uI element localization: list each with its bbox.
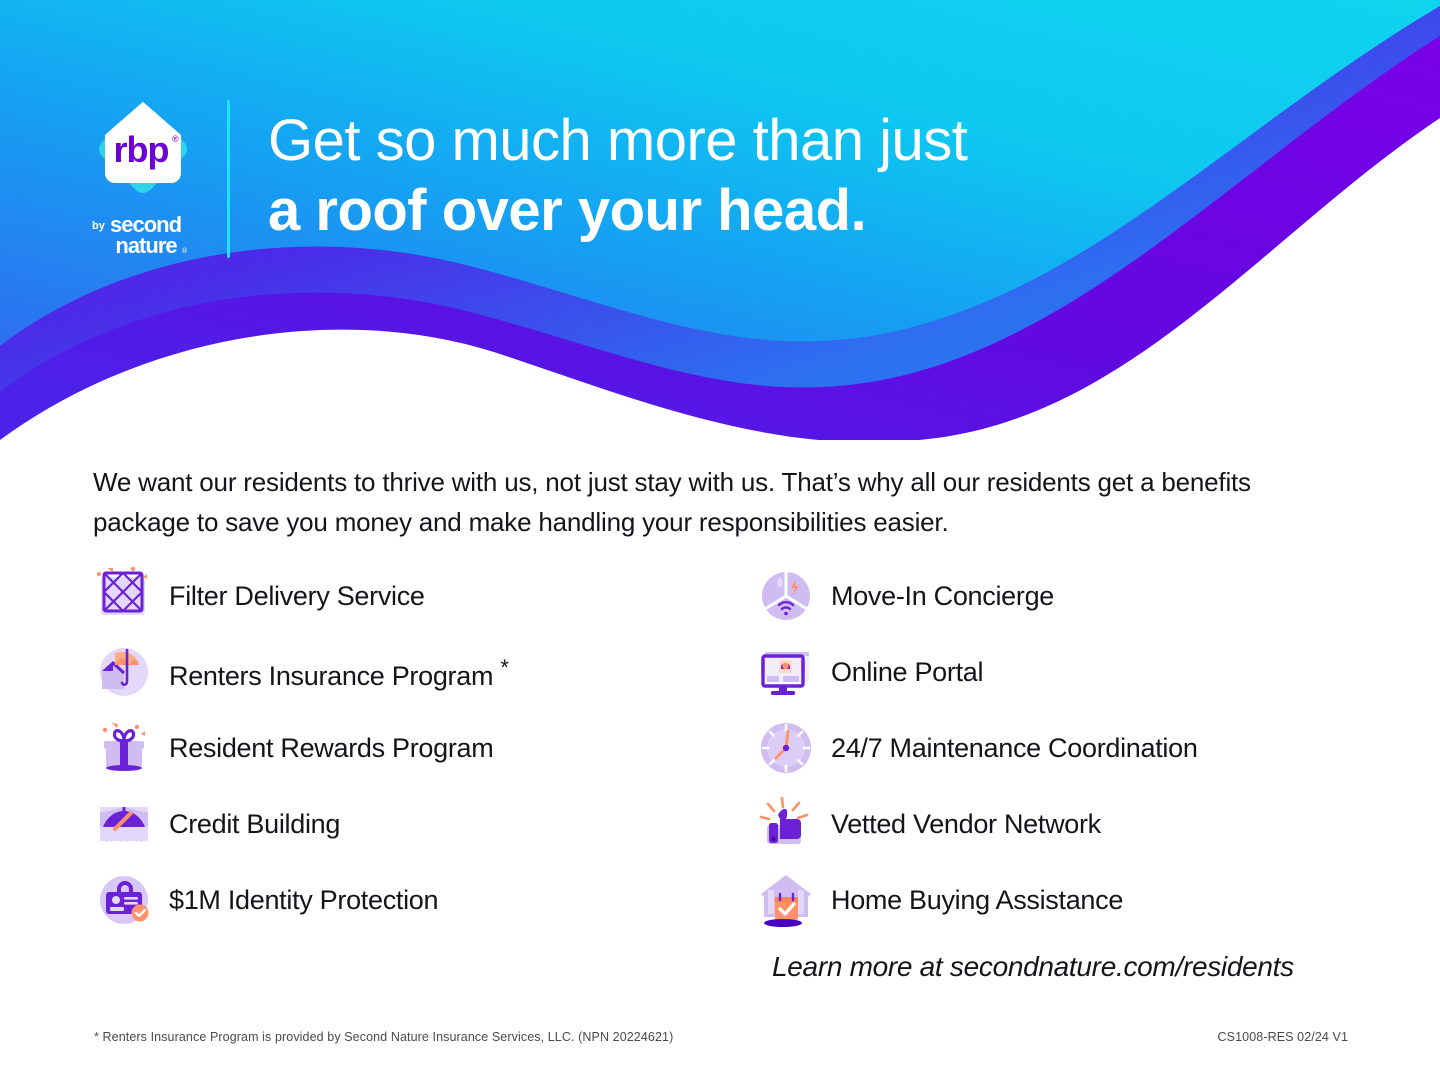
benefit-label: Online Portal: [831, 657, 983, 687]
learn-more-text[interactable]: Learn more at secondnature.com/residents: [772, 950, 1332, 984]
clock-icon: [755, 717, 817, 779]
benefit-resident-rewards-program: Resident Rewards Program: [93, 710, 713, 786]
gift-icon: [93, 717, 155, 779]
intro-paragraph: We want our residents to thrive with us,…: [93, 462, 1308, 542]
benefit-vetted-vendor-network: Vetted Vendor Network: [755, 786, 1375, 862]
benefits-column-right: Move-In Concierge: [755, 558, 1375, 938]
umbrella-icon: [93, 641, 155, 703]
benefit-label: Home Buying Assistance: [831, 885, 1123, 915]
svg-text:rbp: rbp: [114, 129, 169, 170]
rbp-logo-mark: rbp ®: [88, 96, 198, 204]
svg-text:by: by: [92, 220, 106, 232]
rbp-logo-lockup: rbp ® by second nature ®: [88, 96, 206, 256]
headline-line-1: Get so much more than just: [268, 106, 1248, 176]
benefit-home-buying-assistance: Home Buying Assistance: [755, 862, 1375, 938]
svg-text:nature: nature: [115, 233, 177, 258]
registered-mark: ®: [172, 134, 179, 144]
by-second-nature-wordmark: by second nature ®: [88, 212, 204, 258]
benefit-label: Renters Insurance Program *: [169, 653, 509, 691]
benefits-column-left: Filter Delivery Service: [93, 558, 713, 938]
credit-badge-icon: [93, 793, 155, 855]
id-badge-icon: [93, 869, 155, 931]
benefit-move-in-concierge: Move-In Concierge: [755, 558, 1375, 634]
filter-icon: [93, 565, 155, 627]
benefit-maintenance-coordination: 24/7 Maintenance Coordination: [755, 710, 1375, 786]
benefit-label: $1M Identity Protection: [169, 885, 438, 915]
benefit-label: Move-In Concierge: [831, 581, 1054, 611]
footnote-marker: *: [500, 655, 508, 680]
benefit-online-portal: Online Portal: [755, 634, 1375, 710]
utilities-pie-icon: [755, 565, 817, 627]
marketing-flyer: rbp ® by second nature ® Get so much mor…: [0, 0, 1440, 1080]
benefit-label: Credit Building: [169, 809, 340, 839]
benefit-label: Filter Delivery Service: [169, 581, 425, 611]
benefit-label: 24/7 Maintenance Coordination: [831, 733, 1198, 763]
monitor-icon: [755, 641, 817, 703]
benefit-label: Resident Rewards Program: [169, 733, 493, 763]
headline-line-2: a roof over your head.: [268, 176, 1248, 246]
document-code: CS1008-RES 02/24 V1: [1218, 1030, 1348, 1044]
benefit-renters-insurance-program: Renters Insurance Program *: [93, 634, 713, 710]
benefit-credit-building: Credit Building: [93, 786, 713, 862]
benefit-identity-protection: $1M Identity Protection: [93, 862, 713, 938]
hero-banner: rbp ® by second nature ® Get so much mor…: [0, 0, 1440, 440]
legal-disclaimer: * Renters Insurance Program is provided …: [94, 1030, 673, 1044]
rbp-logo-shape: rbp ®: [88, 96, 198, 204]
thumbs-up-icon: [755, 793, 817, 855]
hero-headline: Get so much more than just a roof over y…: [268, 106, 1248, 246]
hero-divider: [227, 100, 230, 258]
svg-text:®: ®: [182, 247, 188, 255]
benefit-label: Vetted Vendor Network: [831, 809, 1101, 839]
house-calendar-icon: [755, 869, 817, 931]
benefit-filter-delivery-service: Filter Delivery Service: [93, 558, 713, 634]
